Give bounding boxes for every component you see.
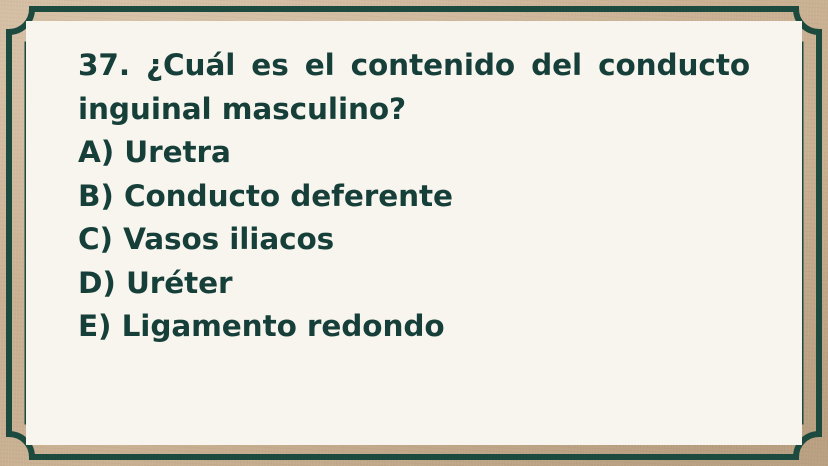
question-word: el — [305, 44, 335, 88]
option-e[interactable]: E) Ligamento redondo — [78, 305, 750, 349]
question-word: 37. — [78, 44, 130, 88]
option-b[interactable]: B) Conducto deferente — [78, 175, 750, 219]
question-content: 37. ¿Cuál es el contenido del conducto i… — [78, 44, 750, 349]
question-line-2: inguinal masculino? — [78, 88, 750, 132]
question-line-1: 37. ¿Cuál es el contenido del conducto — [78, 44, 750, 88]
option-d[interactable]: D) Uréter — [78, 262, 750, 306]
question-word: es — [251, 44, 288, 88]
question-card: 37. ¿Cuál es el contenido del conducto i… — [0, 0, 828, 466]
question-word: ¿Cuál — [146, 44, 235, 88]
question-word: del — [531, 44, 582, 88]
option-a[interactable]: A) Uretra — [78, 131, 750, 175]
question-word: contenido — [351, 44, 515, 88]
question-word: conducto — [598, 44, 750, 88]
option-c[interactable]: C) Vasos iliacos — [78, 218, 750, 262]
